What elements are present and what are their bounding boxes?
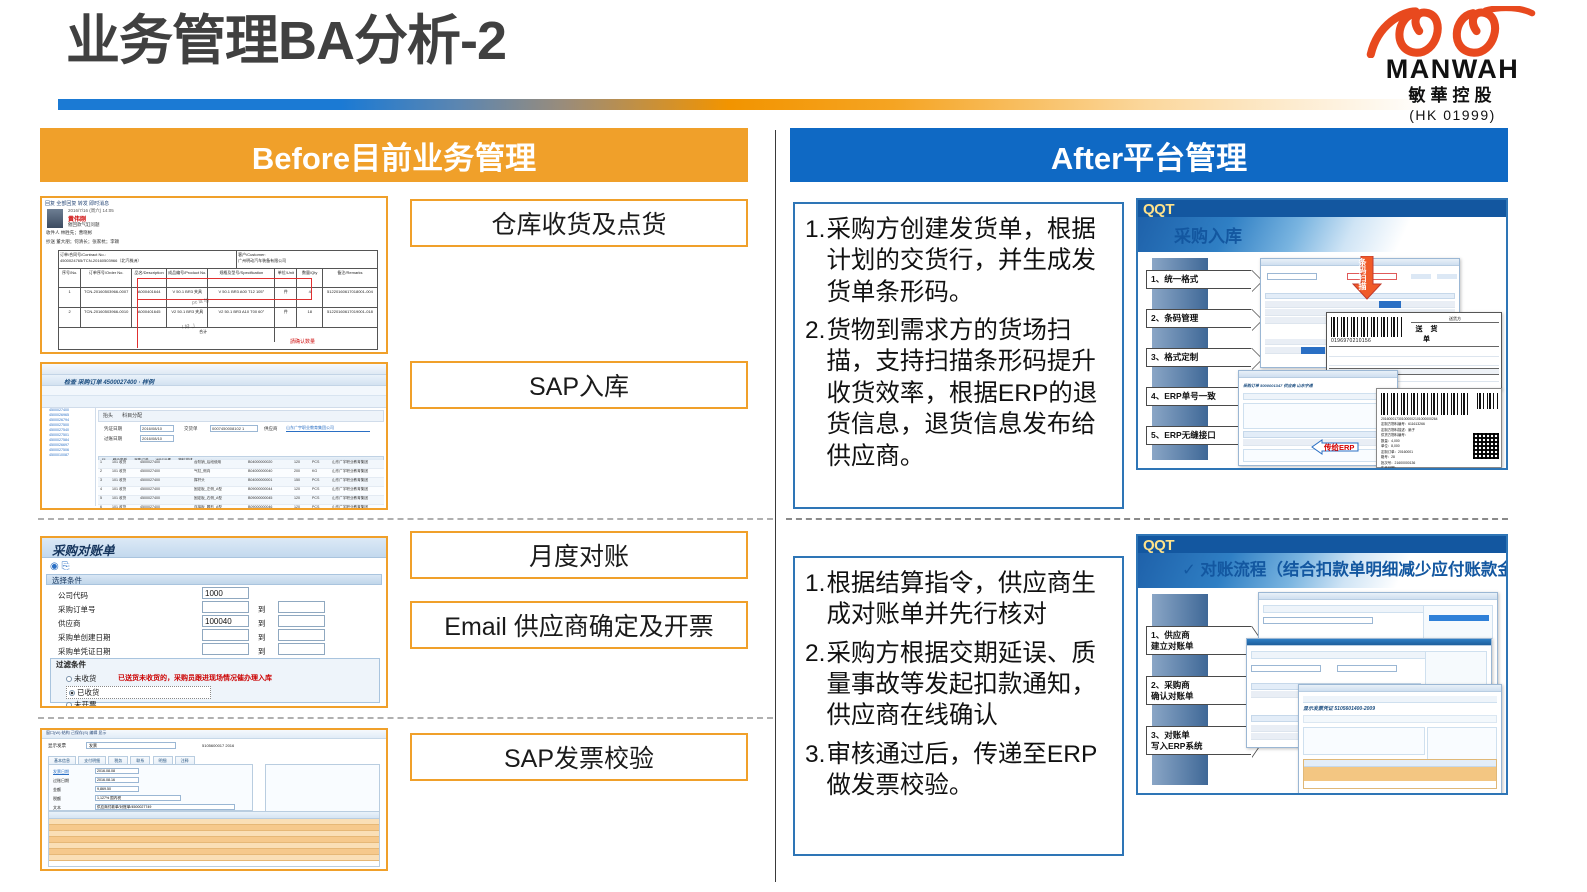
title-divider-rule — [58, 99, 1548, 110]
qqt-title: ✓ 对账流程（结合扣款单明细减少应付账款金额） — [1182, 556, 1506, 580]
cell: PCS — [312, 460, 319, 464]
mail-cc-line: 抄送 董大朋；何清长；张家杭；李颖 — [46, 239, 119, 245]
cell: 山东广宇职业教育集团 — [332, 496, 368, 501]
cell: PCS — [312, 496, 319, 500]
annotation-redbox — [137, 278, 312, 300]
screenshot-contract-email: 回复 全部回复 转发 即时消息 2016/7/16 (周六) 14:05 黄伟刚… — [40, 196, 388, 354]
cell: B04000000001 — [248, 478, 272, 482]
cell: 120 — [294, 505, 300, 509]
sap-field-label: 凭证日期 — [104, 426, 122, 432]
step-buyer-confirm-statement[interactable]: 2、采购商 确认对账单 — [1146, 676, 1252, 705]
cell: 4500027400 — [140, 469, 160, 473]
table-row[interactable]: 5 101 收货 4500027400 固定板_右侧_A型 B090000000… — [98, 496, 384, 505]
section-divider-left-2 — [38, 717, 773, 719]
field-value[interactable]: 供应商付款单/对账单/4500027749 — [95, 804, 235, 810]
sap-toolbar — [42, 364, 386, 375]
qqt-header-bar — [1138, 536, 1506, 553]
table-row: 2 TCN-20160503966-0010 A000401645 V2 50.… — [59, 308, 377, 328]
window-title: 采购对账单 — [42, 538, 386, 558]
qqt-body: 1、供应商 建立对账单 2、采购商 确认对账单 3、对账单 写入ERP系统 — [1138, 588, 1506, 793]
invoice-window: 窗口(W)·结构 己保存(S) 编辑 显示 显示发票 发票 5105600017… — [42, 730, 386, 869]
mock-label-sticker: 201600017301000002101000000264 定制方物料编号：6… — [1376, 388, 1502, 468]
cell: B09000000044 — [248, 487, 272, 491]
table-total-row: 合计 — [59, 328, 377, 342]
step-unified-format[interactable]: 1、统一格式 — [1146, 270, 1252, 289]
contract-table: 订单/合同号/Contract No.: 4500024765/TCN-2016… — [58, 250, 378, 350]
contract-no-value: 4500024765/TCN-20160503966（北汽株洲） — [60, 258, 141, 263]
mock-doc-title: 显示发票凭证 5105601400-2009 — [1303, 705, 1375, 712]
th: 备注/Remarks — [323, 269, 377, 287]
grid-header — [1304, 760, 1496, 767]
mock-grid-header — [1243, 431, 1393, 438]
mock-row[interactable] — [1265, 301, 1455, 308]
field-input-supplier[interactable]: 100040 — [202, 615, 249, 627]
list-text: 货物到需求方的货场扫描，支持扫描条形码提升收货效率，根据ERP的退货信息，退货信… — [826, 315, 1114, 472]
mock-titlebar — [1239, 371, 1397, 378]
after-text-panel-inbound: 1. 采购方创建发货单，根据计划的交货行，并生成发货单条形码。 2. 货物到需求… — [793, 202, 1124, 509]
cell: 2 — [100, 469, 102, 473]
slide-root: 业务管理BA分析-2 MANWAH 敏華控股 (HK 01999) Before… — [0, 0, 1587, 892]
field-label: 采购单创建日期 — [58, 632, 111, 643]
barcode-number: 0196970210156 — [1331, 338, 1371, 344]
barcode-image — [1381, 393, 1469, 415]
tree-item[interactable]: 4500010087 — [44, 453, 95, 458]
th: 序号/No. — [59, 269, 81, 287]
invoice-tab-strip: 基本信息 支付明细 税务 联系 明细 注释 — [48, 756, 380, 764]
cell: 1 — [100, 460, 102, 464]
table-row[interactable]: 2 101 收货 4500027400 气缸_侧向 B04000000040 2… — [98, 469, 384, 478]
field-value[interactable]: 1,127% 国内税 — [95, 795, 181, 801]
after-list-item: 2. 货物到需求方的货场扫描，支持扫描条形码提升收货效率，根据ERP的退货信息，… — [805, 315, 1114, 472]
field-input-po-number[interactable] — [202, 601, 249, 613]
qqt-logo: QQT — [1143, 201, 1174, 218]
field-label: 采购订单号 — [58, 604, 96, 615]
mock-side-panel — [1423, 605, 1493, 639]
qqt-header: QQT 采购入库 — [1138, 200, 1506, 252]
mail-cc-value: 董大朋；何清长；张家杭；李颖 — [56, 239, 119, 244]
radio-received[interactable]: 已收货 — [66, 686, 211, 699]
table-row[interactable]: 1 101 收货 4500027400 台阶销_后段使用 B0400000002… — [98, 460, 384, 469]
mail-toolbar: 回复 全部回复 转发 即时消息 — [45, 200, 109, 207]
cell: KG — [312, 469, 317, 473]
to-label: 到 — [258, 632, 266, 643]
field-input-supplier-to[interactable] — [278, 615, 325, 627]
field-input-po-doc-date[interactable] — [202, 643, 249, 655]
mock-titlebar — [1259, 593, 1497, 600]
cell: 山东广宇职业教育集团 — [332, 478, 368, 483]
mail-to-line: 收件人 林胜先；曹晓彬 — [46, 230, 92, 236]
cell: 6 — [100, 505, 102, 509]
mock-titlebar — [1299, 685, 1501, 692]
qqt-logo: QQT — [1143, 537, 1174, 554]
annotation-redline — [137, 278, 139, 348]
table-meta-row: 订单/合同号/Contract No.: 4500024765/TCN-2016… — [59, 251, 377, 269]
to-label: 到 — [258, 604, 266, 615]
mail-subject: 催回款气缸问题 — [68, 222, 100, 228]
mock-input[interactable] — [1267, 273, 1317, 280]
sap-window: 检查 采购订单 4500027400 · 样例 4500027400 45000… — [42, 364, 386, 508]
cell: 连接板_圆形_A型 — [194, 505, 222, 510]
sap-document-tree: 4500027400 4500026965 4500026794 4500027… — [44, 408, 96, 506]
sap-tab[interactable]: 科目分配 — [118, 411, 146, 420]
before-label-email-invoice[interactable]: Email 供应商确定及开票 — [410, 601, 748, 649]
cell: 4500027400 — [140, 460, 160, 464]
sap-field-label: 供应商 — [264, 426, 278, 432]
cell: 200 — [294, 469, 300, 473]
page-title: 业务管理BA分析-2 — [66, 12, 506, 71]
list-text: 采购方创建发货单，根据计划的交货行，并生成发货单条形码。 — [826, 214, 1114, 308]
label-fields: 201600017301000002101000000264 定制方物料编号：6… — [1381, 417, 1438, 470]
table-row[interactable]: 3 101 收货 4500027400 撑杆头 B04000000001 150… — [98, 478, 384, 487]
cell: 山东广宇职业教育集团 — [332, 487, 368, 492]
table-row[interactable] — [1304, 767, 1496, 774]
filter-group-label: 过滤条件 — [56, 659, 86, 670]
qqt-header: QQT ✓ 对账流程（结合扣款单明细减少应付账款金额） — [1138, 536, 1506, 588]
step-erp-seamless-api[interactable]: 5、ERP无缝接口 — [1146, 426, 1252, 445]
after-list-item: 1. 采购方创建发货单，根据计划的交货行，并生成发货单条形码。 — [805, 214, 1114, 308]
doc-type-select[interactable]: 发票 — [86, 742, 176, 749]
mail-to-value: 林胜先；曹晓彬 — [61, 230, 93, 235]
to-label: 到 — [258, 646, 266, 657]
mock-row — [1303, 715, 1497, 723]
td: TCN-20160503966-0007 — [81, 288, 132, 307]
list-number: 1. — [805, 214, 826, 308]
logo-brand-name: MANWAH — [1360, 56, 1545, 83]
td: 18 — [298, 308, 323, 327]
table-row[interactable] — [49, 855, 379, 861]
radio-not-received[interactable]: 未收货 — [66, 673, 97, 684]
field-label: 过账日期 — [53, 778, 69, 784]
field-input-po-create-date-to[interactable] — [278, 629, 325, 641]
red-note: 已送货未收货的，采购员跟进现场情况催办理入库 — [118, 673, 272, 683]
mock-window-erp-invoice: 显示发票凭证 5105601400-2009 — [1298, 684, 1502, 794]
td: TCN-20160503966-0010 — [81, 308, 132, 327]
after-list-item: 2. 采购方根据交期延误、质量事故等发起扣款通知，供应商在线确认 — [805, 638, 1114, 732]
column-header-after: After平台管理 — [790, 128, 1508, 182]
barcode-image — [1331, 317, 1403, 337]
cell: 固定板_左侧_A型 — [194, 487, 222, 492]
sap-tab-strip: 抬头 科目分配 — [98, 410, 384, 422]
before-label-sap-invoice-check[interactable]: SAP发票校验 — [410, 733, 748, 781]
mail-to-label: 收件人 — [46, 230, 60, 235]
cell: 4500027400 — [140, 505, 160, 509]
qqt-title: 采购入库 — [1174, 222, 1242, 247]
field-label: 税额 — [53, 796, 61, 802]
red-handwriting: 請确认数量 — [290, 338, 315, 345]
doc-header-line: 送货方 — [1411, 316, 1499, 323]
cell: B09000000045 — [248, 496, 272, 500]
cell: 4 — [100, 487, 102, 491]
cell: 山东广宇职业教育集团 — [332, 460, 368, 465]
mock-input[interactable] — [1251, 665, 1321, 672]
field-value[interactable]: 2016.08.16 — [95, 777, 139, 783]
cell: 撑杆头 — [194, 478, 205, 483]
cell: 150 — [294, 478, 300, 482]
qqt-header-bar — [1138, 200, 1506, 217]
field-value[interactable]: 2016.08.08 — [95, 768, 139, 774]
cell: 3 — [100, 478, 102, 482]
annotation-to-erp-label: 传给ERP — [1324, 442, 1354, 453]
to-label: 到 — [258, 618, 266, 629]
mock-doc-title: 采购订单 5000001347 供应商 山东宇通 — [1243, 383, 1313, 389]
doc-number: 5105600017 2016 — [202, 743, 234, 748]
before-label-monthly-reconcile[interactable]: 月度对账 — [410, 531, 748, 579]
logo-stock-code: (HK 01999) — [1360, 106, 1545, 124]
mock-item-grid — [1303, 759, 1497, 789]
mail-cc-label: 抄送 — [46, 239, 55, 244]
mock-titlebar — [1247, 639, 1491, 646]
customer-label: 客户/Customer: — [238, 252, 266, 257]
cell: 气缸_侧向 — [194, 469, 210, 474]
cell: 101 收货 — [112, 460, 126, 465]
manwah-mark-icon — [1360, 6, 1539, 58]
cell: 101 收货 — [112, 496, 126, 501]
section-divider-left-1 — [38, 518, 773, 520]
table-row[interactable]: 6 101 收货 4500027400 连接板_圆形_A型 B090000000… — [98, 505, 384, 510]
td: 件 — [275, 308, 297, 327]
doc-row — [1329, 349, 1499, 357]
radio-label: 已收货 — [77, 688, 100, 697]
list-number: 3. — [805, 739, 826, 802]
section-divider-right-1 — [786, 518, 1508, 520]
step-write-to-erp[interactable]: 3、对账单 写入ERP系统 — [1146, 726, 1252, 755]
customer-cell: 客户/Customer: 广州明动汽车装备有限公司 — [237, 251, 377, 268]
invoice-toolbar: 窗口(W)·结构 己保存(S) 编辑 显示 — [42, 730, 386, 739]
list-number: 1. — [805, 568, 826, 631]
cell: 101 收货 — [112, 469, 126, 474]
cell: PCS — [312, 505, 319, 509]
before-label-warehouse-receipt[interactable]: 仓库收货及点货 — [410, 199, 748, 247]
mock-form — [1243, 403, 1393, 429]
td: V2 50.1 BR3 A10 T00 60° — [208, 308, 275, 327]
customer-value: 广州明动汽车装备有限公司 — [238, 258, 286, 263]
column-header-before: Before目前业务管理 — [40, 128, 748, 182]
sap-field-label: 过账日期 — [104, 436, 122, 442]
avatar — [47, 209, 63, 228]
cell: B04000000040 — [248, 469, 272, 473]
invoice-line-grid — [48, 811, 380, 867]
mock-input[interactable] — [1263, 617, 1373, 624]
field-input-po-create-date[interactable] — [202, 629, 249, 641]
mock-button[interactable] — [1437, 274, 1457, 279]
cell: 固定板_右侧_A型 — [194, 496, 222, 501]
mock-button[interactable] — [1411, 274, 1431, 279]
screenshot-qqt-reconciliation: QQT ✓ 对账流程（结合扣款单明细减少应付账款金额） 1、供应商 建立对账单 … — [1136, 534, 1508, 795]
invoice-supplier-panel — [265, 764, 380, 816]
screenshot-qqt-inbound: QQT 采购入库 1、统一格式 2、条码管理 3、格式定制 4、ERP单号一致 … — [1136, 198, 1508, 470]
cell: B09000000046 — [248, 505, 272, 509]
cell: 4500027400 — [140, 478, 160, 482]
table-row[interactable]: 4 101 收货 4500027400 固定板_左侧_A型 B090000000… — [98, 487, 384, 496]
grid-header — [49, 812, 379, 819]
step-supplier-create-statement[interactable]: 1、供应商 建立对账单 — [1146, 626, 1252, 655]
cell: PCS — [312, 478, 319, 482]
field-value[interactable]: 9,869.50 — [95, 786, 139, 792]
mock-input[interactable] — [1337, 665, 1397, 672]
sap-item-grid: 1 101 收货 4500027400 台阶销_后段使用 B0400000002… — [98, 460, 384, 506]
screenshot-reconciliation-form: 采购对账单 ◉ ⎘ 选择条件 公司代码 1000 采购订单号 到 供应商 100… — [40, 536, 388, 708]
company-logo: MANWAH 敏華控股 (HK 01999) — [1360, 6, 1545, 124]
rule — [1329, 346, 1499, 347]
doc-label: 显示发票 — [48, 743, 66, 749]
cell: PCS — [312, 487, 319, 491]
sap-field-value[interactable]: 山东广宇职业教育集团公司 — [286, 425, 370, 432]
field-label: 供应商 — [58, 618, 81, 629]
sap-field-value[interactable]: 2016/08/10 — [140, 425, 174, 432]
barcode-image-small — [1477, 393, 1499, 409]
mock-menu — [1303, 696, 1497, 703]
column-divider — [775, 130, 776, 882]
qr-code-image — [1473, 433, 1499, 459]
field-label: 采购单凭证日期 — [58, 646, 111, 657]
sap-field-value[interactable]: 0007450008102 1 — [210, 425, 258, 432]
field-input-po-doc-date-to[interactable] — [278, 643, 325, 655]
sap-field-label: 交货单 — [184, 426, 198, 432]
mock-form-panel — [1303, 727, 1425, 755]
scan-content: 回复 全部回复 转发 即时消息 2016/7/16 (周六) 14:05 黄伟刚… — [42, 198, 386, 352]
doc-title: 送 货 单 — [1411, 324, 1445, 344]
mock-primary-button[interactable] — [1429, 615, 1489, 621]
sap-tab[interactable]: 抬头 — [99, 411, 117, 420]
radio-not-invoiced[interactable]: 未开票 — [66, 699, 97, 708]
before-label-sap-inbound[interactable]: SAP入库 — [410, 361, 748, 409]
step-format-customize[interactable]: 3、格式定制 — [1146, 348, 1252, 367]
contract-no-label: 订单/合同号/Contract No.: — [60, 252, 106, 257]
cell: 山东广宇职业教育集团 — [332, 505, 368, 510]
list-text: 采购方根据交期延误、质量事故等发起扣款通知，供应商在线确认 — [826, 638, 1114, 732]
sap-field-value[interactable]: 2016/08/10 — [140, 435, 174, 442]
cell: 山东广宇职业教育集团 — [332, 469, 368, 474]
doc-row — [1329, 358, 1499, 366]
total-label: 合计 — [132, 328, 275, 342]
radio-label: 未开票 — [74, 700, 97, 708]
cell: 120 — [294, 460, 300, 464]
after-list-item: 1. 根据结算指令，供应商生成对账单并先行核对 — [805, 568, 1114, 631]
cell: B04000000020 — [248, 460, 272, 464]
cell: 台阶销_后段使用 — [194, 460, 221, 465]
td: 1 — [59, 288, 81, 307]
td: 51220160617019001-018 — [323, 308, 377, 327]
execute-icon[interactable]: ◉ ⎘ — [50, 561, 70, 572]
field-label: 发票日期 — [53, 769, 69, 775]
cell: 5 — [100, 496, 102, 500]
sap-filter-row — [42, 396, 386, 408]
step-barcode-management[interactable]: 2、条码管理 — [1146, 309, 1252, 328]
step-erp-number-match[interactable]: 4、ERP单号一致 — [1146, 387, 1252, 406]
list-text: 根据结算指令，供应商生成对账单并先行核对 — [826, 568, 1114, 631]
sap-window-title: 检查 采购订单 4500027400 · 样例 — [42, 375, 386, 386]
radio-label: 未收货 — [74, 674, 97, 683]
cell: 120 — [294, 487, 300, 491]
after-text-panel-reconcile: 1. 根据结算指令，供应商生成对账单并先行核对 2. 采购方根据交期延误、质量事… — [793, 556, 1124, 856]
section-header-selection: 选择条件 — [46, 574, 382, 585]
cell: 101 收货 — [112, 478, 126, 483]
field-input-po-number-to[interactable] — [278, 601, 325, 613]
list-text: 审核通过后，传递至ERP做发票校验。 — [826, 739, 1114, 802]
field-input-company-code[interactable]: 1000 — [202, 587, 249, 599]
cell: 4500027400 — [140, 496, 160, 500]
list-number: 2. — [805, 315, 826, 472]
list-number: 2. — [805, 638, 826, 732]
td: 51220160617018001-004 — [323, 288, 377, 307]
th: 订单序号/Order No. — [81, 269, 132, 287]
field-label: 金额 — [53, 787, 61, 793]
table-row[interactable] — [1304, 774, 1496, 781]
field-label: 公司代码 — [58, 590, 88, 601]
sap-menu-row — [42, 386, 386, 396]
cell: 101 收货 — [112, 505, 126, 510]
screenshot-invoice-verification: 窗口(W)·结构 己保存(S) 编辑 显示 显示发票 发票 5105600017… — [40, 728, 388, 871]
screenshot-sap-inbound: 检查 采购订单 4500027400 · 样例 4500027400 45000… — [40, 362, 388, 510]
contract-number-cell: 订单/合同号/Contract No.: 4500024765/TCN-2016… — [59, 251, 237, 268]
cell: 120 — [294, 496, 300, 500]
reconciliation-window: 采购对账单 ◉ ⎘ 选择条件 公司代码 1000 采购订单号 到 供应商 100… — [42, 538, 386, 706]
mock-selected-cell — [1379, 301, 1401, 308]
after-list-item: 3. 审核通过后，传递至ERP做发票校验。 — [805, 739, 1114, 802]
logo-brand-chinese: 敏華控股 — [1360, 85, 1545, 106]
cell: 101 收货 — [112, 487, 126, 492]
mock-toolbar — [1243, 393, 1393, 400]
mock-selected-cell — [1301, 347, 1325, 354]
cell: 4500027400 — [140, 487, 160, 491]
invoice-basic-panel: 发票日期 2016.08.08 过账日期 2016.08.16 金额 9,869… — [48, 764, 253, 811]
qqt-body: 1、统一格式 2、条码管理 3、格式定制 4、ERP单号一致 5、ERP无缝接口 — [1138, 252, 1506, 468]
td: 2 — [59, 308, 81, 327]
annotation-scan-label: 条码扫描 — [1357, 258, 1368, 290]
